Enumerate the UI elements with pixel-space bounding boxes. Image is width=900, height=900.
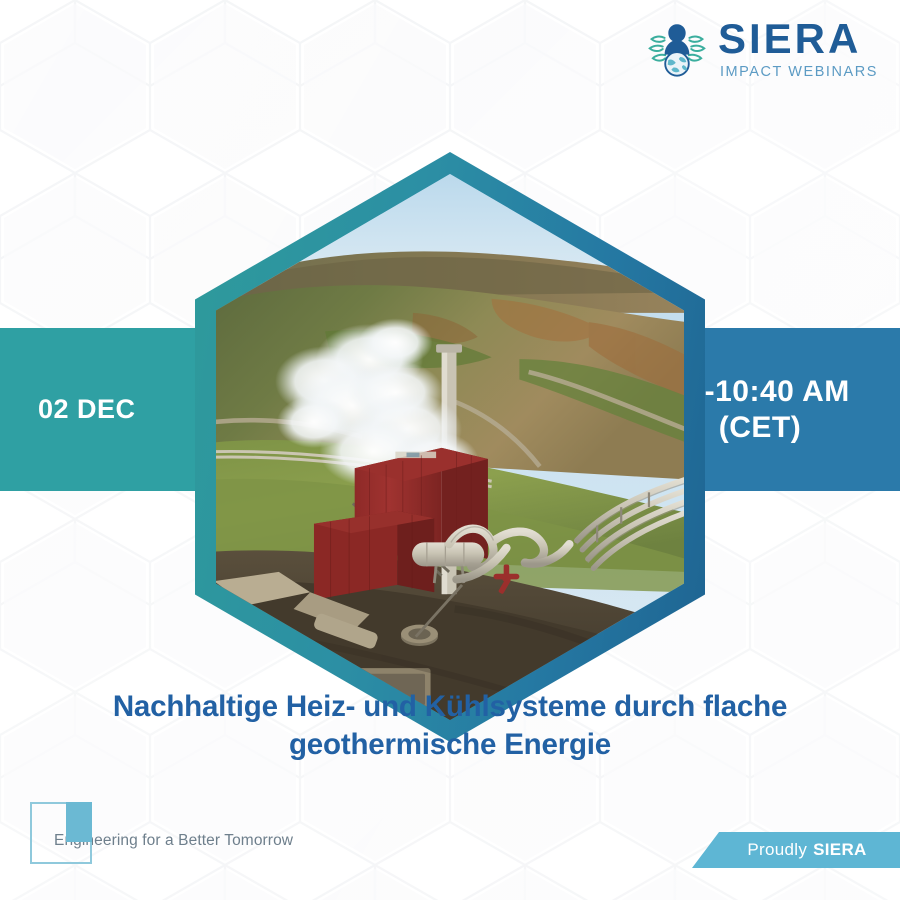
webinar-poster: SIERA IMPACT WEBINARS 02 DEC 10-10:40 AM… bbox=[0, 0, 900, 900]
event-date: 02 DEC bbox=[38, 394, 136, 426]
page-title: Nachhaltige Heiz- und Kühlsysteme durch … bbox=[50, 688, 850, 765]
headline-line-2: geothermische Energie bbox=[50, 726, 850, 764]
siera-logo[interactable]: SIERA IMPACT WEBINARS bbox=[646, 18, 878, 80]
square-bracket-logo-icon bbox=[30, 802, 92, 864]
hexagon-photo-frame bbox=[195, 152, 705, 742]
brand-wordmark: SIERA IMPACT WEBINARS bbox=[718, 18, 878, 80]
footer-brand-block: Engineering for a Better Tomorrow bbox=[30, 802, 293, 864]
brand-tagline: IMPACT WEBINARS bbox=[720, 65, 878, 80]
badge-prefix: Proudly bbox=[747, 840, 807, 860]
brand-name: SIERA bbox=[718, 18, 878, 60]
badge-brand: SIERA bbox=[813, 840, 866, 860]
woman-globe-leaves-icon bbox=[646, 18, 708, 80]
headline-line-1: Nachhaltige Heiz- und Kühlsysteme durch … bbox=[50, 688, 850, 726]
proudly-siera-badge: Proudly SIERA bbox=[692, 832, 900, 868]
